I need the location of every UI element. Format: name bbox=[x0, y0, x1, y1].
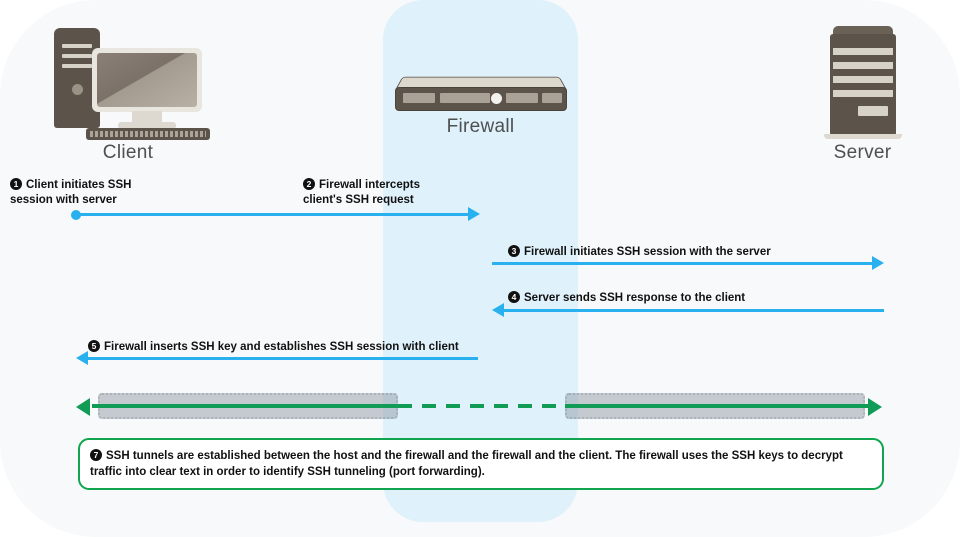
step-5-arrow-line bbox=[88, 357, 478, 360]
step-4-badge: 4 bbox=[508, 291, 520, 303]
node-client-label: Client bbox=[28, 142, 228, 164]
tunnel-line-right bbox=[565, 404, 870, 408]
step-4-text: 4Server sends SSH response to the client bbox=[508, 291, 908, 306]
summary-note-text: 7SSH tunnels are established between the… bbox=[90, 448, 872, 480]
step-3-label: Firewall initiates SSH session with the … bbox=[524, 246, 771, 258]
node-server[interactable]: Server bbox=[800, 24, 925, 164]
step-1-text: 1Client initiates SSH session with serve… bbox=[10, 178, 270, 208]
node-firewall[interactable]: Firewall bbox=[383, 76, 578, 138]
step-2-label: Firewall intercepts client's SSH request bbox=[303, 179, 420, 206]
tunnel-arrow-head-right bbox=[868, 398, 882, 416]
step-1-arrow-head bbox=[468, 207, 480, 221]
step-5-label: Firewall inserts SSH key and establishes… bbox=[104, 341, 459, 353]
step-1-arrow-line bbox=[76, 213, 470, 216]
step-5-arrow-head bbox=[76, 351, 88, 365]
server-rack-icon bbox=[800, 24, 925, 142]
step-3-text: 3Firewall initiates SSH session with the… bbox=[508, 245, 908, 260]
step-2-badge: 2 bbox=[303, 178, 315, 190]
step-5-text: 5Firewall inserts SSH key and establishe… bbox=[88, 340, 508, 355]
step-3-badge: 3 bbox=[508, 245, 520, 257]
tunnel-arrow-head-left bbox=[76, 398, 90, 416]
keyboard-icon bbox=[86, 128, 210, 140]
node-client[interactable]: Client bbox=[28, 24, 228, 164]
step-1-badge: 1 bbox=[10, 178, 22, 190]
step-4-arrow-head bbox=[492, 303, 504, 317]
step-3-arrow-line bbox=[492, 262, 874, 265]
desktop-computer-icon bbox=[28, 24, 228, 142]
diagram-canvas: Client Firewall Server 1Client init bbox=[0, 0, 960, 537]
step-4-label: Server sends SSH response to the client bbox=[524, 292, 745, 304]
node-server-label: Server bbox=[800, 142, 925, 164]
node-firewall-label: Firewall bbox=[383, 116, 578, 138]
step-2-text: 2Firewall intercepts client's SSH reques… bbox=[303, 178, 543, 208]
firewall-appliance-icon bbox=[383, 76, 578, 114]
step-1-label: Client initiates SSH session with server bbox=[10, 179, 131, 206]
summary-note-body: SSH tunnels are established between the … bbox=[90, 450, 843, 478]
step-3-arrow-head bbox=[872, 256, 884, 270]
monitor-icon bbox=[92, 48, 202, 112]
tunnel-line-left bbox=[92, 404, 400, 408]
tunnel-line-dashed bbox=[398, 404, 568, 408]
step-5-badge: 5 bbox=[88, 340, 100, 352]
summary-note-box: 7SSH tunnels are established between the… bbox=[78, 438, 884, 490]
summary-note-badge: 7 bbox=[90, 449, 102, 461]
step-4-arrow-line bbox=[504, 309, 884, 312]
